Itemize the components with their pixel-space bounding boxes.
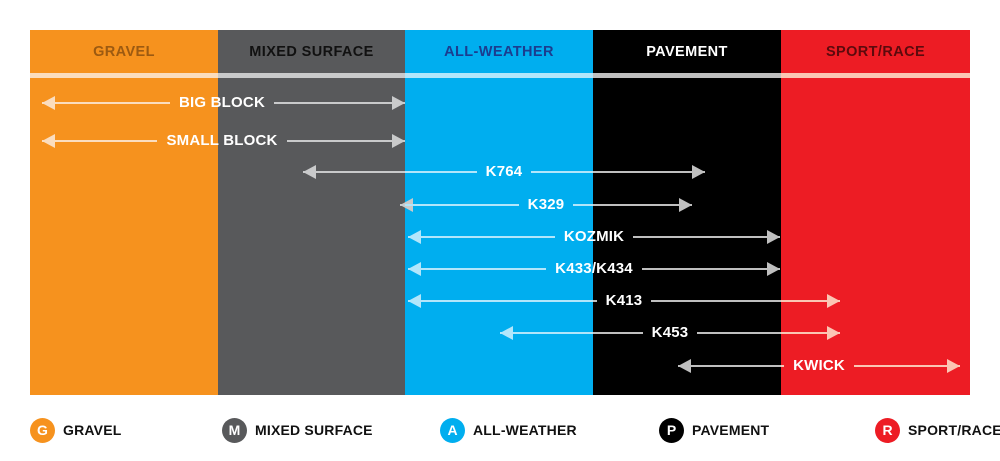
- tire-model-label: BIG BLOCK: [170, 92, 274, 114]
- arrow-shaft: [274, 102, 405, 104]
- arrow-segment: [405, 161, 477, 183]
- arrow-segment: [781, 322, 840, 344]
- arrow-segment: [678, 355, 781, 377]
- arrow-shaft: [593, 171, 705, 173]
- arrow-segment: [781, 355, 784, 377]
- arrow-shaft: [633, 236, 780, 238]
- tire-row: K433/K434: [30, 258, 970, 280]
- arrow-shaft: [408, 300, 593, 302]
- surface-legend: GGRAVELMMIXED SURFACEAALL-WEATHERPPAVEME…: [30, 412, 970, 448]
- arrow-segment: [500, 322, 593, 344]
- legend-label: MIXED SURFACE: [255, 422, 373, 438]
- tire-model-label: K413: [597, 290, 652, 312]
- legend-label: SPORT/RACE: [908, 422, 1000, 438]
- legend-item-pavement: PPAVEMENT: [659, 412, 769, 448]
- arrow-segment: [42, 92, 170, 114]
- arrow-shaft: [697, 332, 781, 334]
- tire-row: BIG BLOCK: [30, 92, 970, 114]
- tire-row: KOZMIK: [30, 226, 970, 248]
- arrow-segment: [593, 322, 643, 344]
- surface-compatibility-chart: GRAVELMIXED SURFACEALL-WEATHERPAVEMENTSP…: [30, 30, 970, 395]
- arrow-head-right-icon: [827, 326, 840, 340]
- arrow-head-left-icon: [303, 165, 316, 179]
- arrow-segment: [651, 290, 781, 312]
- arrow-shaft: [42, 102, 170, 104]
- arrow-segment: [593, 161, 705, 183]
- arrow-shaft: [593, 204, 692, 206]
- arrow-segment: [593, 194, 692, 216]
- arrow-shaft: [573, 204, 593, 206]
- arrow-segment: [697, 322, 781, 344]
- arrow-segment: [405, 194, 519, 216]
- arrow-segment: [633, 226, 780, 248]
- arrow-shaft: [593, 332, 643, 334]
- arrow-shaft: [678, 365, 781, 367]
- legend-badge-g-icon: G: [30, 418, 55, 443]
- arrow-shaft: [593, 300, 597, 302]
- arrow-shaft: [408, 236, 555, 238]
- arrow-segment: [303, 161, 405, 183]
- arrow-shaft: [651, 300, 781, 302]
- arrow-shaft: [854, 365, 960, 367]
- legend-item-gravel: GGRAVEL: [30, 412, 122, 448]
- arrow-shaft: [405, 204, 519, 206]
- arrow-head-left-icon: [42, 96, 55, 110]
- legend-badge-m-icon: M: [222, 418, 247, 443]
- tire-row: K453: [30, 322, 970, 344]
- tire-model-label: K329: [519, 194, 574, 216]
- arrow-head-right-icon: [767, 262, 780, 276]
- arrow-head-right-icon: [392, 134, 405, 148]
- tire-row: K413: [30, 290, 970, 312]
- arrow-shaft: [42, 140, 157, 142]
- tire-model-label: KOZMIK: [555, 226, 633, 248]
- arrow-head-left-icon: [500, 326, 513, 340]
- arrow-segment: [408, 258, 546, 280]
- arrow-head-right-icon: [767, 230, 780, 244]
- tire-row: K764: [30, 161, 970, 183]
- arrow-segment: [642, 258, 780, 280]
- arrow-shaft: [287, 140, 405, 142]
- arrow-segment: [854, 355, 960, 377]
- legend-badge-p-icon: P: [659, 418, 684, 443]
- arrow-shaft: [405, 171, 477, 173]
- legend-label: PAVEMENT: [692, 422, 769, 438]
- tire-row: KWICK: [30, 355, 970, 377]
- arrow-head-right-icon: [679, 198, 692, 212]
- arrow-segment: [593, 290, 597, 312]
- legend-label: ALL-WEATHER: [473, 422, 577, 438]
- arrow-head-right-icon: [692, 165, 705, 179]
- tire-model-label: KWICK: [784, 355, 854, 377]
- arrow-segment: [573, 194, 593, 216]
- tire-model-rows: BIG BLOCKSMALL BLOCKK764K329KOZMIKK433/K…: [30, 30, 970, 395]
- legend-item-sport-race: RSPORT/RACE: [875, 412, 1000, 448]
- arrow-head-left-icon: [408, 262, 421, 276]
- arrow-segment: [781, 290, 840, 312]
- arrow-segment: [287, 130, 405, 152]
- arrow-segment: [408, 290, 593, 312]
- arrow-head-left-icon: [678, 359, 691, 373]
- arrow-segment: [274, 92, 405, 114]
- arrow-head-right-icon: [392, 96, 405, 110]
- tire-model-label: SMALL BLOCK: [157, 130, 286, 152]
- arrow-head-right-icon: [827, 294, 840, 308]
- tire-row: K329: [30, 194, 970, 216]
- arrow-shaft: [781, 365, 784, 367]
- legend-badge-a-icon: A: [440, 418, 465, 443]
- arrow-shaft: [531, 171, 593, 173]
- legend-label: GRAVEL: [63, 422, 122, 438]
- arrow-shaft: [500, 332, 593, 334]
- tire-model-label: K764: [477, 161, 532, 183]
- legend-badge-r-icon: R: [875, 418, 900, 443]
- arrow-shaft: [303, 171, 405, 173]
- tire-model-label: K453: [643, 322, 698, 344]
- tire-row: SMALL BLOCK: [30, 130, 970, 152]
- arrow-shaft: [642, 268, 780, 270]
- arrow-head-left-icon: [42, 134, 55, 148]
- arrow-head-right-icon: [947, 359, 960, 373]
- arrow-segment: [531, 161, 593, 183]
- arrow-segment: [408, 226, 555, 248]
- legend-item-all-weather: AALL-WEATHER: [440, 412, 577, 448]
- arrow-head-left-icon: [408, 230, 421, 244]
- legend-item-mixed-surface: MMIXED SURFACE: [222, 412, 373, 448]
- tire-model-label: K433/K434: [546, 258, 642, 280]
- arrow-segment: [42, 130, 157, 152]
- arrow-head-left-icon: [408, 294, 421, 308]
- arrow-shaft: [408, 268, 546, 270]
